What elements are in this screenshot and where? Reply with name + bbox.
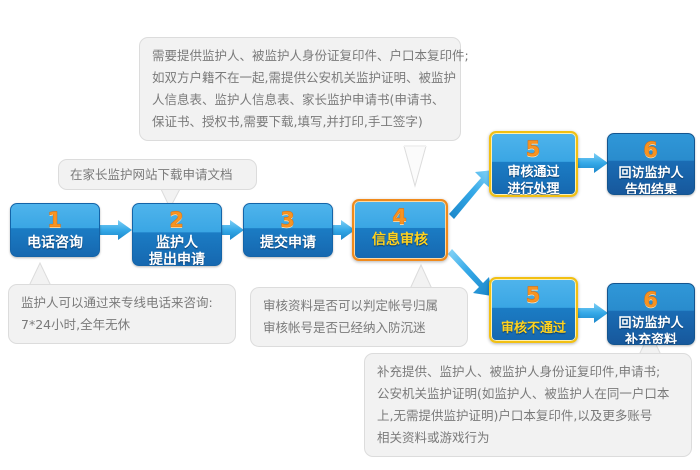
tail-review-rules: [410, 265, 432, 289]
callout-line: 公安机关监护证明(如监护人、被监护人在同一户口本: [377, 383, 679, 405]
step-label: 回访监护人: [618, 165, 683, 182]
step-box-6-fail[interactable]: 6 回访监护人 补充资料: [607, 283, 695, 345]
tail-documents-required: [404, 146, 426, 186]
step-box-3[interactable]: 3 提交申请: [243, 203, 333, 257]
step-number: 5: [526, 139, 542, 160]
callout-line: 7*24小时,全年无休: [21, 314, 223, 336]
step-label: 审核不通过: [501, 320, 566, 337]
step-label-2: 补充资料: [625, 332, 677, 345]
step-label-2: 进行处理: [507, 181, 559, 197]
callout-line: 人信息表、监护人信息表、家长监护申请书(申请书、: [152, 89, 448, 111]
step-number: 6: [643, 140, 659, 161]
callout-line: 审核帐号是否已经纳入防沉迷: [263, 317, 455, 339]
callout-documents-required: 需要提供监护人、被监护人身份证复印件、户口本复印件; 如双方户籍不在一起,需提供…: [139, 37, 461, 141]
step-number: 3: [280, 210, 296, 231]
callout-supplement: 补充提供、监护人、被监护人身份证复印件,申请书; 公安机关监护证明(如监护人、被…: [364, 353, 692, 457]
callout-line: 审核资料是否可以判定帐号归属: [263, 295, 455, 317]
step-label: 信息审核: [372, 232, 428, 249]
step-number: 2: [169, 210, 185, 231]
step-label: 电话咨询: [27, 235, 83, 252]
tail-hotline: [29, 263, 51, 286]
step-label: 审核通过: [507, 164, 559, 181]
callout-line: 保证书、授权书,需要下载,填写,并打印,手工签字): [152, 111, 448, 133]
step-label: 回访监护人: [618, 315, 683, 332]
arrow-5pass-to-6pass: [578, 153, 608, 173]
callout-line: 相关资料或游戏行为: [377, 427, 679, 449]
callout-line: 在家长监护网站下载申请文档: [70, 165, 245, 184]
step-label: 提交申请: [260, 235, 316, 252]
step-label-2: 提出申请: [149, 252, 205, 266]
step-number: 6: [643, 290, 659, 311]
callout-line: 如双方户籍不在一起,需提供公安机关监护证明、被监护: [152, 67, 448, 89]
step-number: 5: [526, 285, 542, 306]
callout-line: 上,无需提供监护证明)户口本复印件,以及更多账号: [377, 405, 679, 427]
arrow-1-to-2: [100, 220, 132, 240]
callout-line: 监护人可以通过来专线电话来咨询:: [21, 292, 223, 314]
callout-download-docs: 在家长监护网站下载申请文档: [58, 159, 257, 190]
step-box-5-pass[interactable]: 5 审核通过 进行处理: [489, 131, 578, 197]
callout-line: 需要提供监护人、被监护人身份证复印件、户口本复印件;: [152, 45, 448, 67]
step-number: 1: [47, 210, 63, 231]
callout-review-rules: 审核资料是否可以判定帐号归属 审核帐号是否已经纳入防沉迷: [250, 287, 468, 347]
step-box-5-fail[interactable]: 5 审核不通过: [489, 277, 578, 343]
step-box-6-pass[interactable]: 6 回访监护人 告知结果: [607, 133, 695, 195]
step-box-2[interactable]: 2 监护人 提出申请: [132, 203, 222, 266]
arrow-4-to-5-pass: [449, 170, 494, 219]
step-number: 4: [392, 207, 408, 228]
flowchart-canvas: 需要提供监护人、被监护人身份证复印件、户口本复印件; 如双方户籍不在一起,需提供…: [0, 0, 700, 470]
step-box-1[interactable]: 1 电话咨询: [10, 203, 100, 257]
arrow-5fail-to-6fail: [578, 303, 608, 323]
callout-line: 补充提供、监护人、被监护人身份证复印件,申请书;: [377, 361, 679, 383]
step-box-4[interactable]: 4 信息审核: [352, 199, 448, 261]
step-label: 监护人: [156, 235, 198, 252]
step-label-2: 告知结果: [625, 182, 677, 195]
callout-hotline: 监护人可以通过来专线电话来咨询: 7*24小时,全年无休: [8, 284, 236, 344]
